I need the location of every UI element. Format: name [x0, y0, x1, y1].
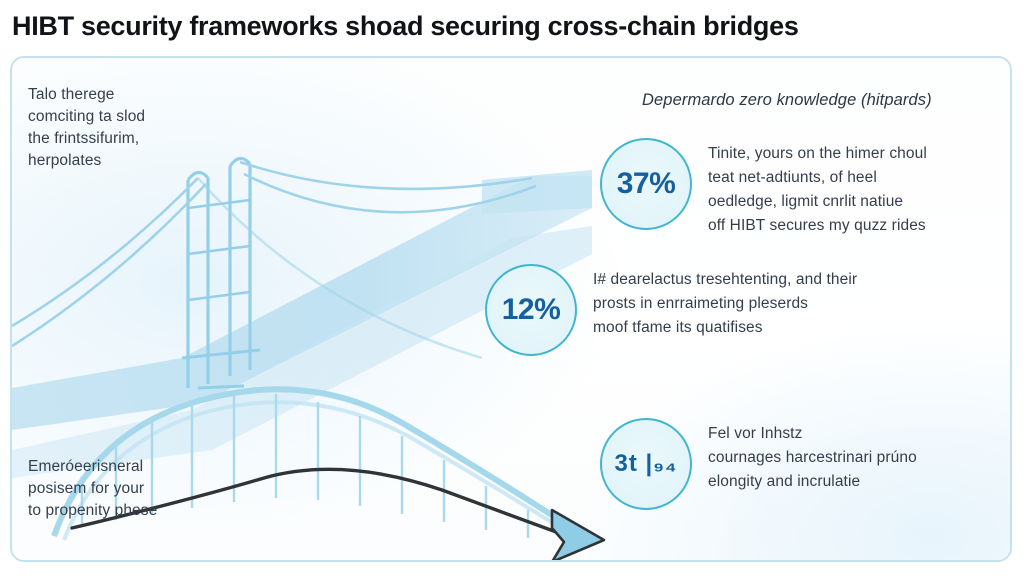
- stat-badge-value: 3t |₉₄: [615, 450, 678, 478]
- stat-row: 3t |₉₄ Fel vor Inhstz cournages harcestr…: [600, 418, 1008, 510]
- note-top-left: Talo therege comciting ta slod the frint…: [28, 84, 258, 172]
- stat-badge-value: 37%: [617, 167, 676, 201]
- stat-badge-circle: 37%: [600, 138, 692, 230]
- stats-heading: Depermardo zero knowledge (hitpards): [642, 91, 1012, 110]
- stat-description: Fel vor Inhstz cournages harcestrinari p…: [708, 418, 1008, 494]
- stat-row: 12% I# dearelactus tresehtenting, and th…: [485, 264, 1011, 356]
- page-title: HIBT security frameworks shoad securing …: [12, 6, 1012, 46]
- stat-badge-circle: 12%: [485, 264, 577, 356]
- stat-badge-circle: 3t |₉₄: [600, 418, 692, 510]
- stat-row: 37% Tinite, yours on the himer choul tea…: [600, 138, 1008, 238]
- stats-column: Depermardo zero knowledge (hitpards) 37%…: [482, 76, 1012, 556]
- stat-description: I# dearelactus tresehtenting, and their …: [593, 264, 1011, 340]
- infographic-card: Talo therege comciting ta slod the frint…: [10, 56, 1012, 562]
- stat-description: Tinite, yours on the himer choul teat ne…: [708, 138, 1008, 238]
- stat-badge-value: 12%: [502, 293, 561, 327]
- note-bottom-left: Emeróeerisneral posisem for your to prop…: [28, 456, 258, 522]
